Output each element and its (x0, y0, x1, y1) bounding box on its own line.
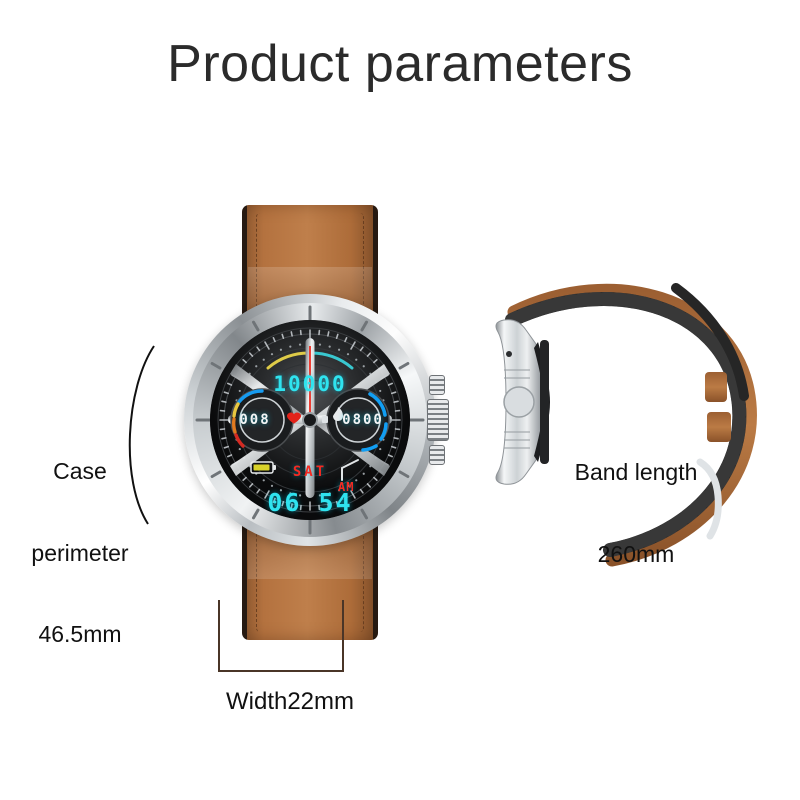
page-title: Product parameters (0, 34, 800, 94)
callout-strap-width: Width22mm (200, 688, 380, 716)
callout-case-line-2: perimeter (14, 540, 146, 567)
calories-value: 0800 (330, 412, 396, 428)
watch-case: 10000 008 0800 SAT 06 54 AM (184, 294, 436, 546)
keeper-loop (705, 372, 727, 402)
crown-button (504, 387, 534, 417)
callout-band-line-1: Band length (548, 459, 724, 486)
product-parameters-diagram: Product parameters (0, 0, 800, 800)
meridiem-readout: AM (338, 480, 354, 494)
microphone-hole (506, 351, 512, 357)
callout-case-line-1: Case (14, 458, 146, 485)
callout-case-perimeter: Case perimeter 46.5mm (14, 404, 146, 702)
callout-band-length: Band length 260mm (548, 405, 724, 622)
watch-dial-screen[interactable]: 10000 008 0800 SAT 06 54 AM (210, 320, 410, 520)
side-button-top-icon[interactable] (429, 375, 445, 395)
time-readout: 06 54 (210, 488, 410, 517)
side-button-bottom-icon[interactable] (429, 445, 445, 465)
heart-rate-value: 008 (226, 412, 284, 428)
steps-readout: 10000 (210, 372, 410, 396)
crown-icon[interactable] (427, 399, 449, 441)
smartwatch-front-view: 10000 008 0800 SAT 06 54 AM (170, 205, 450, 635)
strap-width-bracket (218, 600, 344, 672)
callout-case-line-3: 46.5mm (14, 621, 146, 648)
callout-band-line-2: 260mm (548, 541, 724, 568)
weekday-readout: SAT (210, 464, 410, 480)
